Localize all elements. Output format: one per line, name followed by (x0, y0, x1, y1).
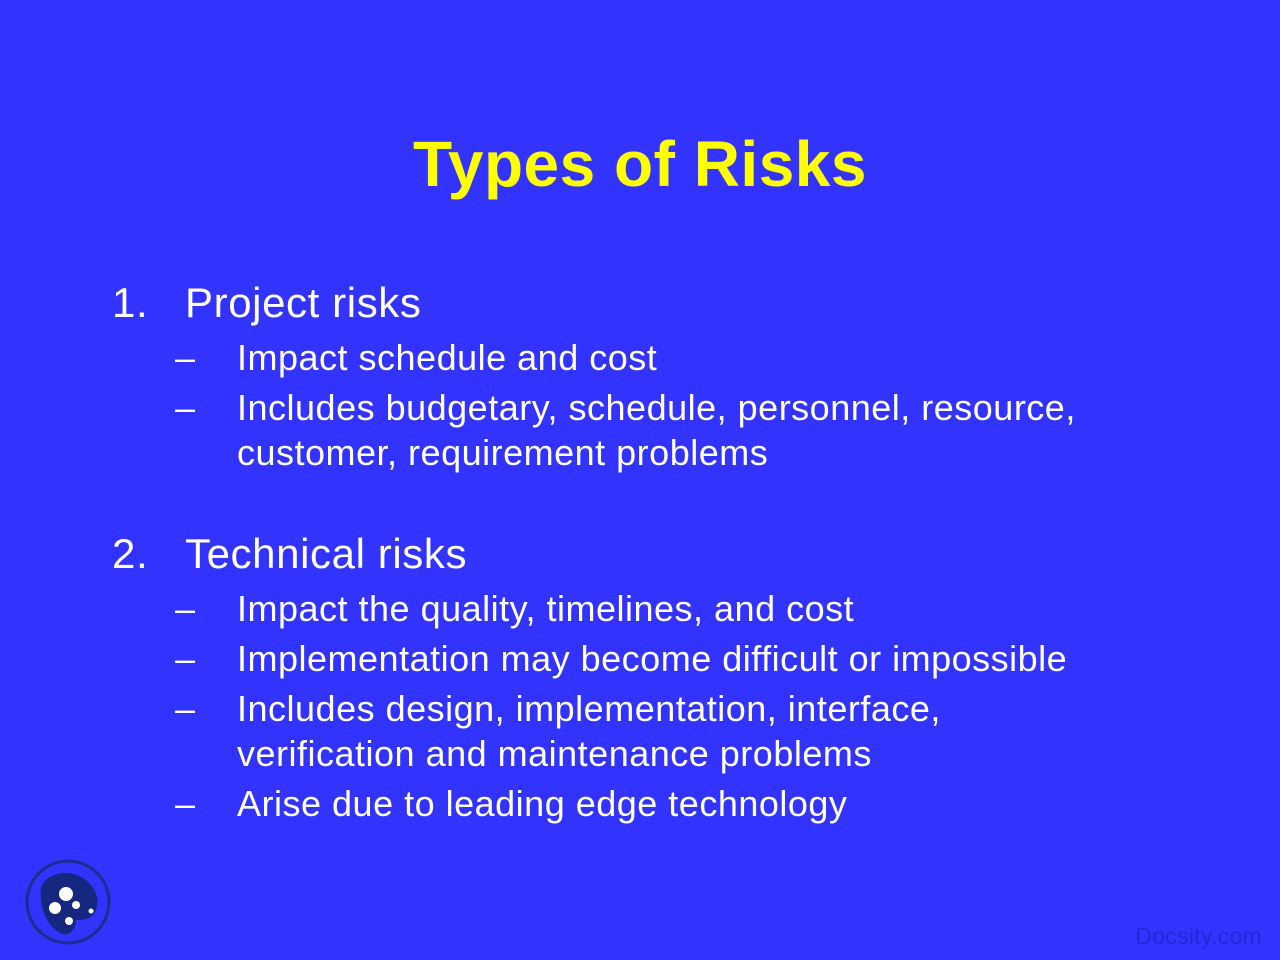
dash-bullet-icon: – (175, 335, 196, 380)
list-item-text: Implementation may become difficult or i… (237, 638, 1067, 679)
list-marker-number: 2. (112, 527, 148, 581)
section-spacer (100, 475, 1100, 527)
list-item-text: Impact the quality, timelines, and cost (237, 588, 854, 629)
list-item-label: Technical risks (185, 530, 467, 577)
content-body: 1. Project risks – Impact schedule and c… (100, 276, 1100, 826)
list-marker-number: 1. (112, 276, 148, 330)
page-title: Types of Risks (0, 126, 1280, 202)
sublist-project-risks: – Impact schedule and cost – Includes bu… (100, 335, 1100, 475)
list-item-text: Includes design, implementation, interfa… (237, 688, 941, 774)
list-item-level2: – Impact the quality, timelines, and cos… (100, 586, 1100, 631)
dash-bullet-icon: – (175, 636, 196, 681)
dash-bullet-icon: – (175, 781, 196, 826)
list-item-level1: 2. Technical risks (100, 527, 1100, 581)
sublist-technical-risks: – Impact the quality, timelines, and cos… (100, 586, 1100, 826)
dash-bullet-icon: – (175, 586, 196, 631)
list-item-level2: – Arise due to leading edge technology (100, 781, 1100, 826)
list-item-level2: – Includes budgetary, schedule, personne… (100, 385, 1100, 475)
list-item-level2: – Includes design, implementation, inter… (100, 686, 1100, 776)
list-item-text: Impact schedule and cost (237, 337, 657, 378)
docsity-logo-icon (24, 858, 112, 946)
list-item-level1: 1. Project risks (100, 276, 1100, 330)
slide-canvas: Types of Risks 1. Project risks – Impact… (0, 0, 1280, 960)
list-item-text: Arise due to leading edge technology (237, 783, 847, 824)
list-item-level2: – Impact schedule and cost (100, 335, 1100, 380)
list-item-level2: – Implementation may become difficult or… (100, 636, 1100, 681)
dash-bullet-icon: – (175, 686, 196, 731)
footer-watermark: Docsity.com (1135, 922, 1262, 950)
dash-bullet-icon: – (175, 385, 196, 430)
list-item-label: Project risks (185, 279, 422, 326)
list-item-text: Includes budgetary, schedule, personnel,… (237, 387, 1076, 473)
